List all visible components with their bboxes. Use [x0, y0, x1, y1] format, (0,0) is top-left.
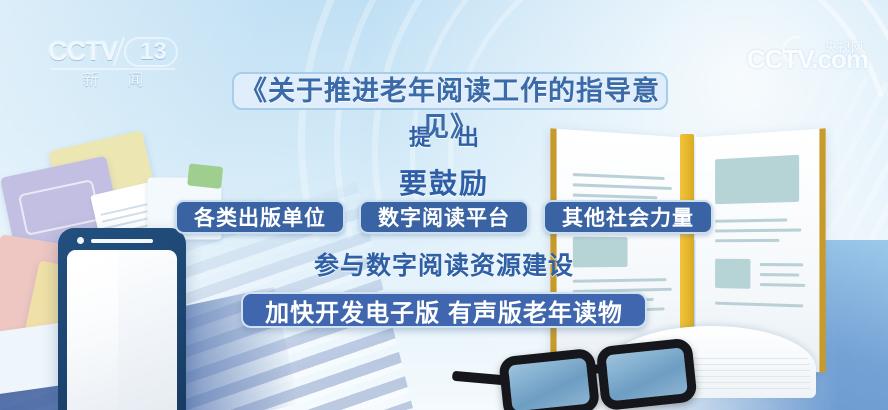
actor-pill: 各类出版单位	[175, 200, 345, 234]
phone-camera-dot	[77, 237, 84, 244]
cctv13-channel-logo: CCTV 13 新 闻	[48, 36, 180, 96]
highlight-pill-row: 加快开发电子版 有声版老年读物	[0, 292, 888, 328]
watermark-cn-text: 央视网	[825, 38, 864, 55]
broadcast-screen: CCTV 13 新 闻 央视网 CCTV.com 《关于推进老年阅读工作的指导意…	[0, 0, 888, 410]
proposes-label: 提 出	[0, 120, 888, 152]
actor-pill: 数字阅读平台	[359, 200, 529, 234]
glasses-left-lens	[498, 348, 600, 410]
channel-logo-underline	[51, 68, 175, 70]
actor-pill: 其他社会力量	[543, 200, 713, 234]
encourage-label: 要鼓励	[0, 162, 888, 202]
glasses-right-lens	[596, 337, 698, 410]
participate-label: 参与数字阅读资源建设	[0, 246, 888, 282]
actor-pill-row: 各类出版单位 数字阅读平台 其他社会力量	[0, 200, 888, 234]
highlight-pill: 加快开发电子版 有声版老年读物	[241, 292, 647, 328]
phone-speaker-bar	[91, 239, 153, 243]
channel-number: 13	[140, 38, 167, 66]
cctv-com-watermark: 央视网 CCTV.com	[747, 44, 868, 74]
